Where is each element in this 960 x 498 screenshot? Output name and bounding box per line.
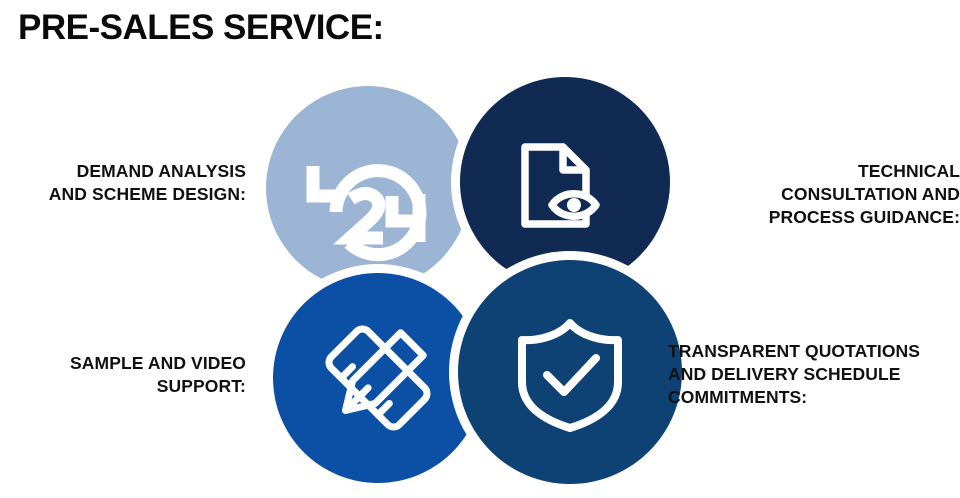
label-technical-consultation: TECHNICAL CONSULTATION AND PROCESS GUIDA… bbox=[728, 160, 960, 229]
label-sample-video-support: SAMPLE AND VIDEO SUPPORT: bbox=[0, 352, 246, 398]
circle-technical-consultation-shape bbox=[460, 77, 670, 287]
circle-transparent-quotations-shape bbox=[458, 260, 682, 484]
circle-cluster-diagram bbox=[0, 0, 960, 498]
circle-sample-video-support-shape bbox=[273, 273, 483, 483]
circle-sample-video-support[interactable] bbox=[273, 273, 483, 483]
label-demand-analysis: DEMAND ANALYSIS AND SCHEME DESIGN: bbox=[0, 160, 246, 206]
circle-demand-analysis[interactable] bbox=[266, 86, 470, 290]
circle-transparent-quotations[interactable] bbox=[458, 260, 682, 484]
circle-technical-consultation[interactable] bbox=[460, 77, 670, 287]
label-transparent-quotations: TRANSPARENT QUOTATIONS AND DELIVERY SCHE… bbox=[668, 340, 960, 409]
